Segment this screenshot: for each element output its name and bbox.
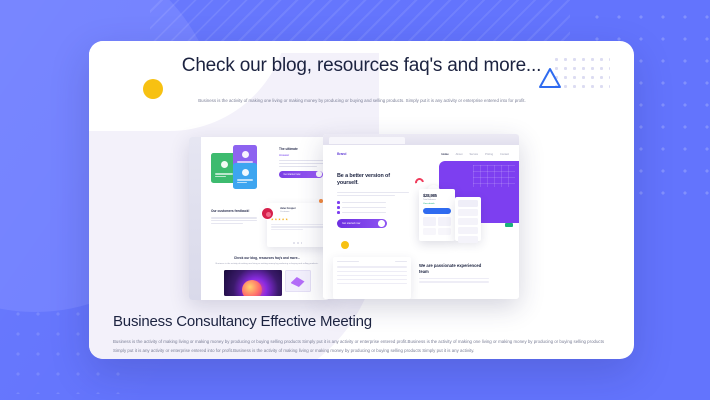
lower-panel-rows: [337, 266, 407, 284]
feature-card-lines: [237, 179, 253, 185]
nav-item-about[interactable]: About: [456, 153, 463, 156]
avatar: [261, 207, 274, 220]
feature-icon: [242, 169, 249, 176]
team-heading: We are passionate experienced team: [419, 263, 489, 275]
testimonial-card[interactable]: Jane Cooper Customer: [267, 203, 329, 247]
lower-panel-header: [337, 261, 407, 262]
stat-subtitle: Total balance: [423, 199, 451, 201]
screenshot-root: Check our blog, resources faq's and more…: [0, 0, 710, 400]
feature-icon: [242, 151, 249, 158]
feature-card-lines: [215, 173, 233, 179]
keypad-row: [458, 227, 478, 234]
page-card: Check our blog, resources faq's and more…: [89, 41, 634, 359]
blog-image-dark[interactable]: [224, 270, 282, 296]
site-nav: Brand Home About Service Pricing Contact: [337, 151, 509, 157]
blog-footer-images: [215, 270, 319, 296]
stat-link[interactable]: View details: [423, 203, 451, 205]
keypad-row: [458, 236, 478, 243]
keypad-card[interactable]: [455, 197, 481, 241]
browser-chrome: [323, 134, 519, 145]
hero-check-list: [337, 201, 409, 214]
stat-amount: $28,985: [423, 193, 451, 198]
nav-item-pricing[interactable]: Pricing: [485, 153, 493, 156]
yellow-dot-decoration: [143, 79, 163, 99]
team-lines: [419, 278, 489, 282]
team-section: We are passionate experienced team: [419, 263, 489, 285]
blog-footer-heading: Check our blog, resources faq's and more…: [215, 256, 319, 261]
feature-cta-knob-icon: [316, 171, 321, 176]
red-arc-decoration: [413, 176, 426, 189]
keypad-row: [458, 218, 478, 225]
stat-tile: [438, 228, 451, 235]
check-icon: [337, 211, 340, 214]
nav-item-home[interactable]: Home: [441, 153, 448, 156]
bottom-section: Business Consultancy Effective Meeting B…: [113, 313, 616, 355]
testimonial-body-lines: [271, 224, 325, 231]
feature-card-blue[interactable]: [233, 163, 257, 189]
teal-chip-decoration: [505, 223, 513, 227]
check-line: [342, 212, 386, 213]
hero-copy: Be a better version of yourself. Get sta…: [337, 173, 409, 228]
stat-card[interactable]: $28,985 Total balance View details: [419, 189, 455, 241]
page-title: Check our blog, resources faq's and more…: [129, 53, 594, 79]
keypad-row: [458, 209, 478, 216]
check-icon: [337, 201, 340, 204]
testimonial-name: Jane Cooper: [280, 207, 325, 210]
stat-tile: [423, 228, 436, 235]
site-logo[interactable]: Brand: [337, 152, 346, 156]
testimonial-heading: Our customers feedback!: [211, 209, 257, 214]
browser-tab[interactable]: [329, 137, 405, 144]
hero-cta-knob-icon: [378, 220, 385, 227]
check-item: [337, 206, 409, 209]
feature-cta-label: Get started now: [281, 173, 301, 176]
hero-cta-button[interactable]: Get started now: [337, 219, 387, 228]
bottom-heading: Business Consultancy Effective Meeting: [113, 313, 616, 330]
stat-tile: [438, 217, 451, 226]
carousel-dots[interactable]: [293, 242, 302, 244]
site-nav-links: Home About Service Pricing Contact: [441, 153, 509, 156]
feature-cta-button[interactable]: Get started now: [279, 171, 323, 178]
stat-transfer-button[interactable]: [423, 208, 451, 214]
hero-heading: Be a better version of yourself.: [337, 173, 409, 188]
mockup-left-rail: [189, 137, 201, 300]
yellow-dot-mockup: [341, 241, 349, 249]
mockup-right[interactable]: Brand Home About Service Pricing Contact: [323, 134, 519, 299]
stat-tile: [423, 217, 436, 226]
testimonial-lines: [211, 217, 257, 223]
mockup-left[interactable]: The ultimate Answer Get started now Our …: [189, 137, 329, 300]
check-item: [337, 211, 409, 214]
hero-body-lines: [337, 192, 409, 196]
keypad-row: [458, 200, 478, 207]
feature-heading: The ultimate: [279, 147, 327, 152]
check-line: [342, 207, 386, 208]
mockup-left-body: The ultimate Answer Get started now Our …: [205, 137, 325, 300]
lower-panel-card[interactable]: [333, 257, 411, 299]
testimonial-section: Our customers feedback! Jane Cooper Cust…: [211, 199, 323, 251]
bottom-paragraph: Business is the activity of making livin…: [113, 337, 616, 355]
feature-text-block: The ultimate Answer Get started now: [279, 147, 327, 178]
stat-grid: [423, 217, 451, 226]
nav-item-contact[interactable]: Contact: [500, 153, 509, 156]
browser-viewport: Brand Home About Service Pricing Contact: [323, 145, 519, 299]
hero-grid-pattern: [473, 165, 515, 187]
nav-item-service[interactable]: Service: [469, 153, 478, 156]
feature-subheading: Answer: [279, 153, 327, 157]
feature-body-lines: [279, 160, 327, 166]
testimonial-copy: Our customers feedback!: [211, 209, 257, 226]
blog-image-light[interactable]: [285, 270, 311, 292]
check-icon: [337, 206, 340, 209]
testimonial-role: Customer: [280, 211, 325, 213]
check-line: [342, 202, 386, 203]
blog-footer-section: Check our blog, resources faq's and more…: [215, 256, 319, 296]
stat-row: [423, 228, 451, 235]
blog-footer-subcopy: Business is the activity of making one l…: [215, 263, 319, 267]
check-item: [337, 201, 409, 204]
mockups-row: The ultimate Answer Get started now Our …: [89, 137, 634, 305]
feature-card-group: [211, 145, 273, 185]
feature-icon: [221, 161, 228, 168]
page-subtitle: Business is the activity of making one l…: [197, 97, 527, 106]
rating-stars-icon: [271, 218, 325, 221]
hero-cta-label: Get started now: [339, 222, 360, 225]
